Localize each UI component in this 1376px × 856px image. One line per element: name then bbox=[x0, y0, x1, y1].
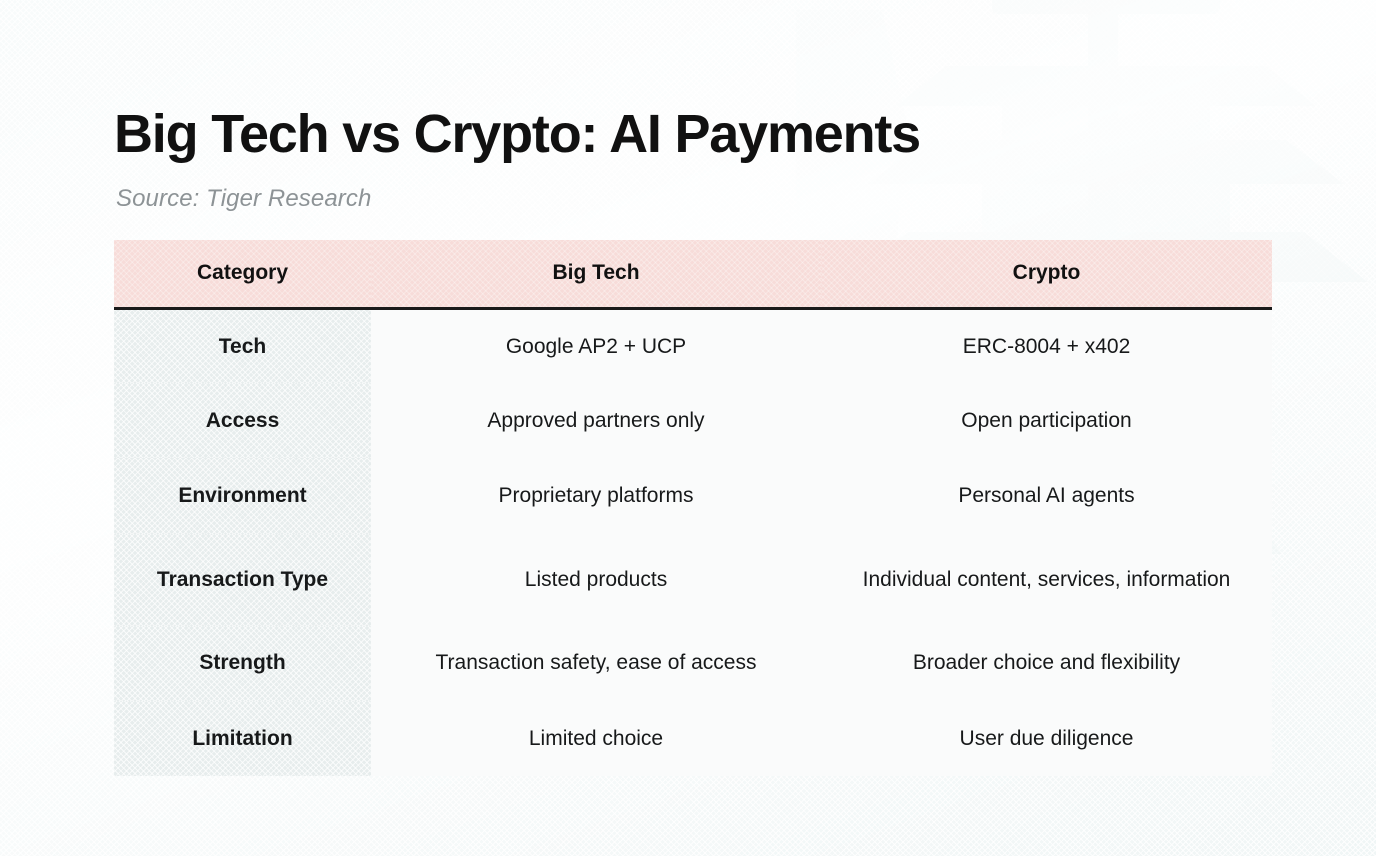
page-background: Big Tech vs Crypto: AI Payments Source: … bbox=[0, 0, 1376, 856]
table-body: Tech Google AP2 + UCP ERC-8004 + x402 Ac… bbox=[114, 308, 1272, 776]
cell-text: Limitation bbox=[192, 727, 292, 750]
row-category-transaction-type: Transaction Type bbox=[114, 534, 371, 626]
cell-big-tech-tech: Google AP2 + UCP bbox=[371, 308, 821, 383]
cell-crypto-strength: Broader choice and flexibility bbox=[821, 626, 1272, 701]
cell-text: Transaction Type bbox=[157, 568, 328, 591]
cell-text: Strength bbox=[199, 651, 285, 674]
cell-crypto-access: Open participation bbox=[821, 383, 1272, 458]
column-header-category: Category bbox=[114, 240, 371, 308]
cell-crypto-limitation: User due diligence bbox=[821, 701, 1272, 776]
column-header-big-tech-label: Big Tech bbox=[552, 261, 639, 284]
row-category-strength: Strength bbox=[114, 626, 371, 701]
cell-text: Environment bbox=[178, 484, 306, 507]
table-header-row: Category Big Tech Crypto bbox=[114, 240, 1272, 308]
table-row: Transaction Type Listed products Individ… bbox=[114, 534, 1272, 626]
row-category-access: Access bbox=[114, 383, 371, 458]
cell-big-tech-strength: Transaction safety, ease of access bbox=[371, 626, 821, 701]
table-row: Access Approved partners only Open parti… bbox=[114, 383, 1272, 458]
table-row: Limitation Limited choice User due dilig… bbox=[114, 701, 1272, 776]
column-header-category-label: Category bbox=[197, 261, 288, 284]
table-header: Category Big Tech Crypto bbox=[114, 240, 1272, 308]
page-title: Big Tech vs Crypto: AI Payments bbox=[114, 105, 920, 163]
cell-crypto-transaction-type: Individual content, services, informatio… bbox=[821, 534, 1272, 626]
column-header-crypto-label: Crypto bbox=[1013, 261, 1081, 284]
row-category-environment: Environment bbox=[114, 458, 371, 533]
column-header-crypto: Crypto bbox=[821, 240, 1272, 308]
row-category-tech: Tech bbox=[114, 308, 371, 383]
comparison-table: Category Big Tech Crypto Tech bbox=[114, 240, 1272, 776]
source-caption: Source: Tiger Research bbox=[116, 185, 371, 213]
table-row: Tech Google AP2 + UCP ERC-8004 + x402 bbox=[114, 308, 1272, 383]
cell-text: Access bbox=[206, 409, 280, 432]
cell-text: Tech bbox=[219, 335, 266, 358]
comparison-table-container: Category Big Tech Crypto Tech bbox=[114, 240, 1272, 776]
cell-crypto-environment: Personal AI agents bbox=[821, 458, 1272, 533]
cell-big-tech-access: Approved partners only bbox=[371, 383, 821, 458]
row-category-limitation: Limitation bbox=[114, 701, 371, 776]
cell-big-tech-environment: Proprietary platforms bbox=[371, 458, 821, 533]
cell-big-tech-limitation: Limited choice bbox=[371, 701, 821, 776]
column-header-big-tech: Big Tech bbox=[371, 240, 821, 308]
table-row: Strength Transaction safety, ease of acc… bbox=[114, 626, 1272, 701]
cell-crypto-tech: ERC-8004 + x402 bbox=[821, 308, 1272, 383]
table-row: Environment Proprietary platforms Person… bbox=[114, 458, 1272, 533]
cell-big-tech-transaction-type: Listed products bbox=[371, 534, 821, 626]
